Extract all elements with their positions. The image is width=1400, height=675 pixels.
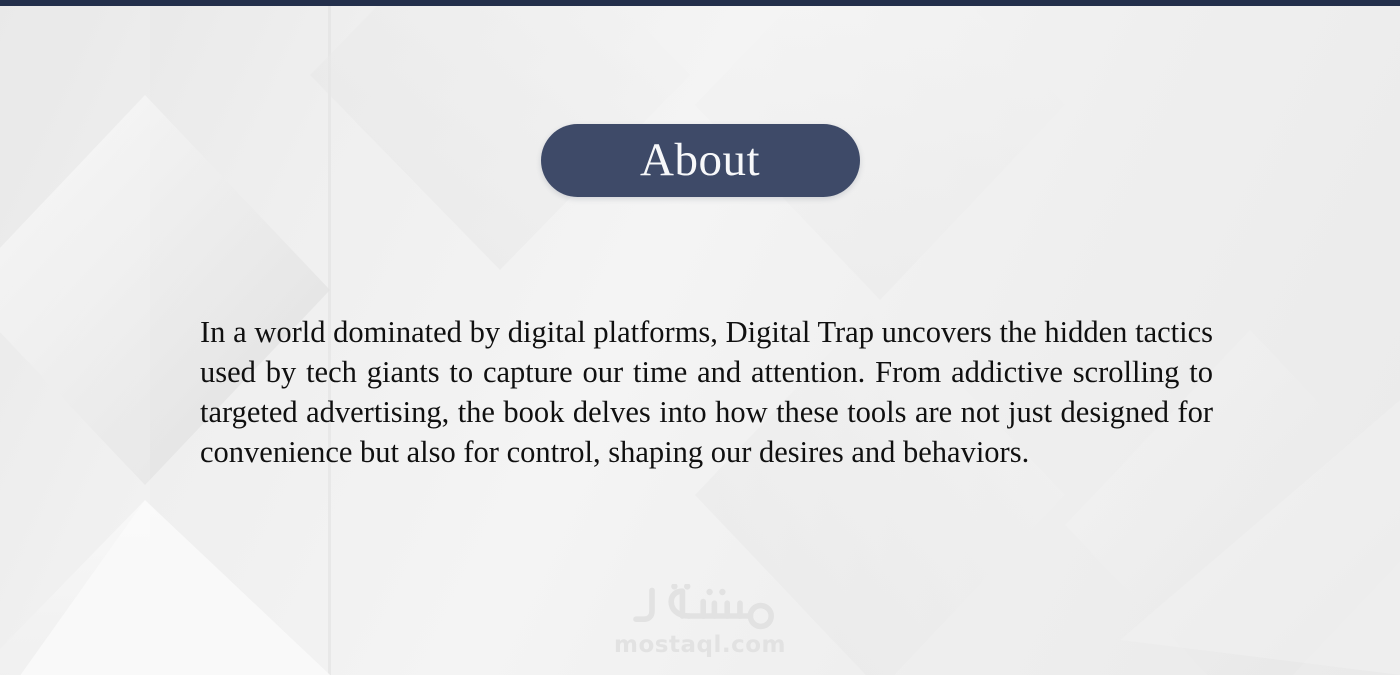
- about-paragraph: In a world dominated by digital platform…: [200, 312, 1213, 472]
- about-slide: About In a world dominated by digital pl…: [0, 0, 1400, 675]
- top-accent-bar: [0, 0, 1400, 6]
- heading-container: About: [0, 124, 1400, 197]
- page-title: About: [640, 137, 760, 184]
- about-title-pill: About: [541, 124, 860, 197]
